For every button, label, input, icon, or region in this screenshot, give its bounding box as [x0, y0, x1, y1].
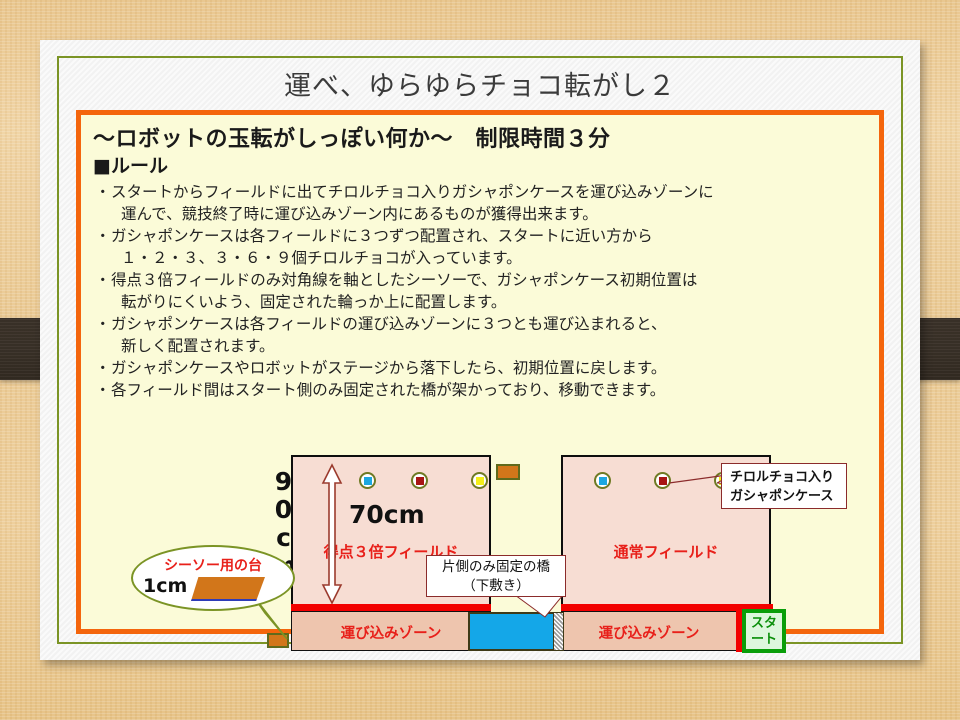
dimension-label-70cm: 70cm	[349, 500, 425, 529]
dimension-arrow-70cm	[321, 463, 343, 605]
content-panel: ～ロボットの玉転がしっぽい何か～ 制限時間３分 ■ルール ・スタートからフィール…	[76, 110, 884, 634]
case-pip-blue	[599, 477, 607, 485]
carry-in-zone-left-label: 運び込みゾーン	[292, 622, 490, 643]
slide: 運べ、ゆらゆらチョコ転がし２ ～ロボットの玉転がしっぽい何か～ 制限時間３分 ■…	[40, 40, 920, 660]
bridge-callout: 片側のみ固定の橋 （下敷き）	[426, 555, 566, 597]
start-label-line2: ート	[746, 632, 782, 648]
case-pip-red	[659, 477, 667, 485]
case-pip-red	[416, 477, 424, 485]
bridge-callout-tail	[511, 595, 571, 619]
bridge-callout-line1: 片側のみ固定の橋	[427, 558, 565, 577]
page-title: 運べ、ゆらゆらチョコ転がし２	[57, 64, 903, 108]
case-pip-blue	[364, 477, 372, 485]
case-pip-yellow	[476, 477, 484, 485]
seesaw-stand-top	[496, 464, 520, 480]
gashapon-case-callout: チロルチョコ入り ガシャポンケース	[721, 463, 847, 509]
start-label-line1: スタ	[746, 616, 782, 632]
seesaw-callout: シーソー用の台 1cm	[131, 545, 295, 611]
carry-in-zone-left: 運び込みゾーン	[291, 611, 491, 651]
bridge-callout-line2: （下敷き）	[427, 577, 565, 596]
carry-in-zone-right: 運び込みゾーン	[561, 611, 737, 651]
gashapon-case-blue	[594, 472, 611, 489]
seesaw-callout-label: シーソー用の台	[133, 555, 293, 575]
gashapon-case-blue	[359, 472, 376, 489]
zone-divider-left	[291, 604, 491, 611]
case-callout-line1: チロルチョコ入り	[730, 468, 846, 487]
field-normal-label: 通常フィールド	[563, 541, 769, 562]
start-box: スタ ート	[742, 609, 786, 653]
gashapon-case-red	[411, 472, 428, 489]
seesaw-thickness-label: 1cm	[143, 575, 187, 597]
carry-in-zone-right-label: 運び込みゾーン	[562, 622, 736, 643]
case-callout-leader	[669, 475, 729, 489]
gashapon-case-yellow	[471, 472, 488, 489]
seesaw-stand-shape	[191, 577, 265, 601]
field-diagram: 90cm 得点３倍フィールド 70cm	[81, 115, 889, 639]
case-callout-line2: ガシャポンケース	[730, 487, 846, 506]
